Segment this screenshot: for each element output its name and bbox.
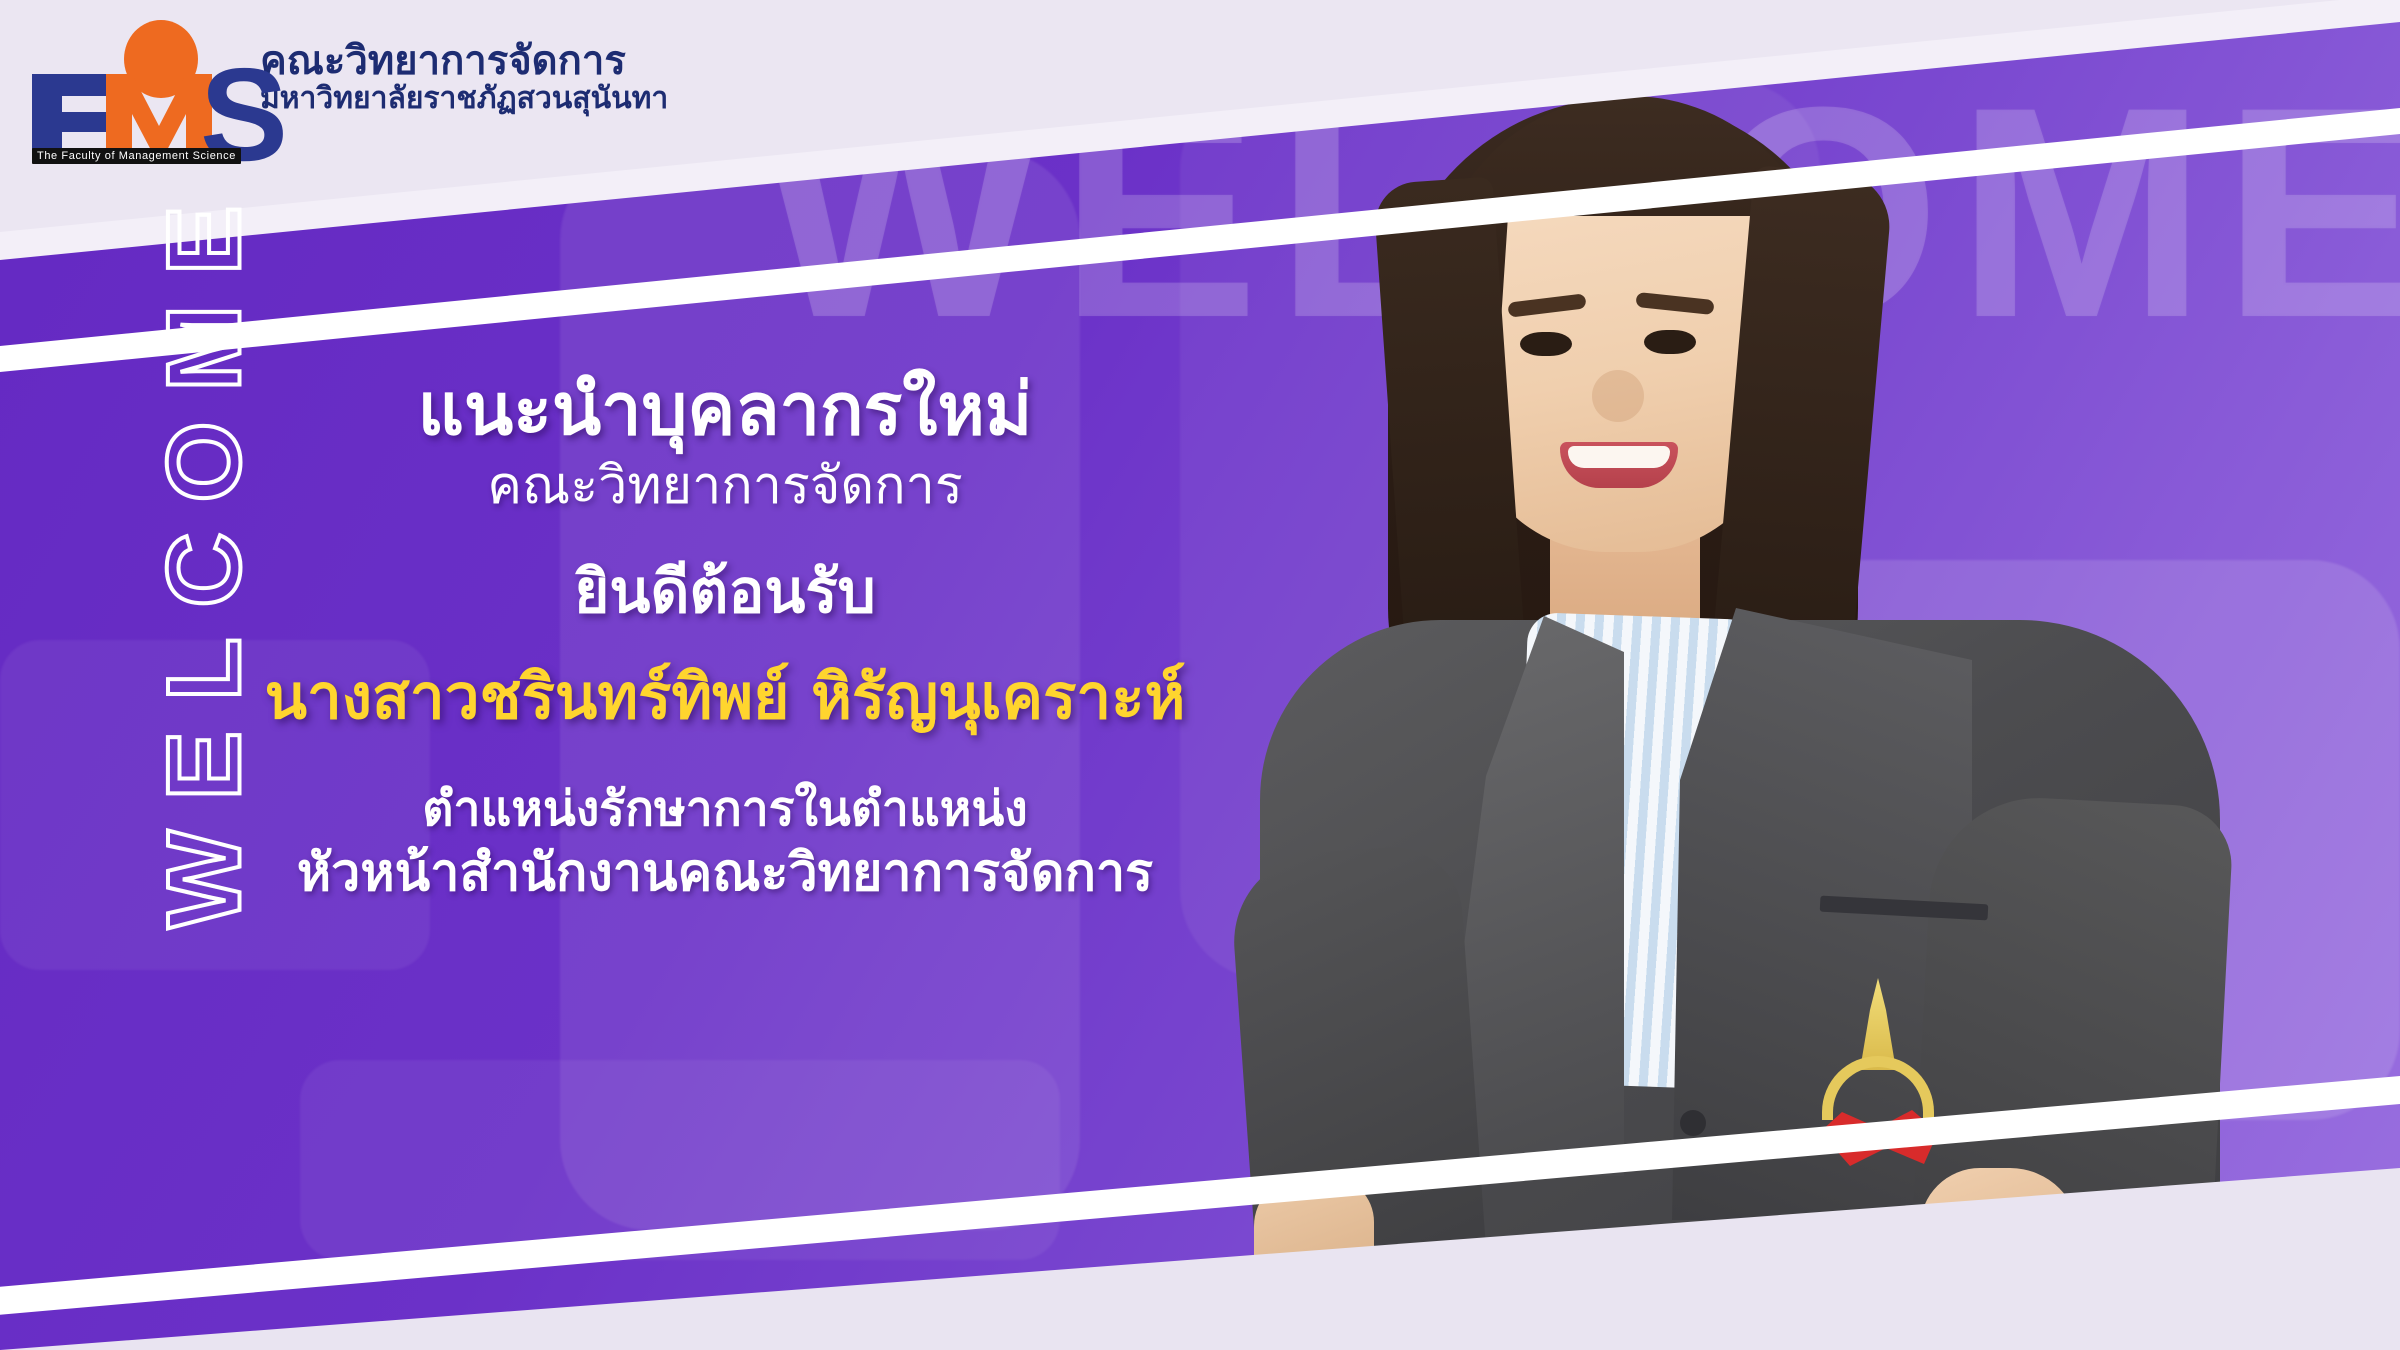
subheadline: คณะวิทยาการจัดการ: [200, 453, 1250, 520]
position-line-1: ตำแหน่งรักษาการในตำแหน่ง: [200, 780, 1250, 840]
blazer-button: [1680, 1110, 1706, 1136]
announcement-copy: แนะนำบุคลากรใหม่ คณะวิทยาการจัดการ ยินดี…: [200, 370, 1250, 906]
welcome-label: ยินดีต้อนรับ: [200, 556, 1250, 628]
logo-wordmark: คณะวิทยาการจัดการ มหาวิทยาลัยราชภัฏสวนสุ…: [260, 40, 668, 116]
staff-name: นางสาวชรินทร์ทิพย์ หิรัญนุเคราะห์: [200, 658, 1250, 736]
position-line-2: หัวหน้าสำนักงานคณะวิทยาการจัดการ: [200, 841, 1250, 905]
eye-right: [1644, 330, 1696, 354]
logo-university-name: มหาวิทยาลัยราชภัฏสวนสุนันทา: [260, 82, 668, 116]
eye-left: [1520, 332, 1572, 356]
fms-logo-mark: S The Faculty of Management Science: [18, 12, 268, 162]
welcome-banner: WELCOME: [0, 0, 2400, 1350]
fms-logo: S The Faculty of Management Science คณะว…: [18, 12, 668, 162]
nose: [1592, 370, 1644, 422]
teeth: [1568, 446, 1670, 468]
mouth: [1560, 442, 1678, 488]
logo-tagline: The Faculty of Management Science: [32, 148, 241, 164]
logo-faculty-name: คณะวิทยาการจัดการ: [260, 40, 668, 82]
headline: แนะนำบุคลากรใหม่: [200, 370, 1250, 449]
